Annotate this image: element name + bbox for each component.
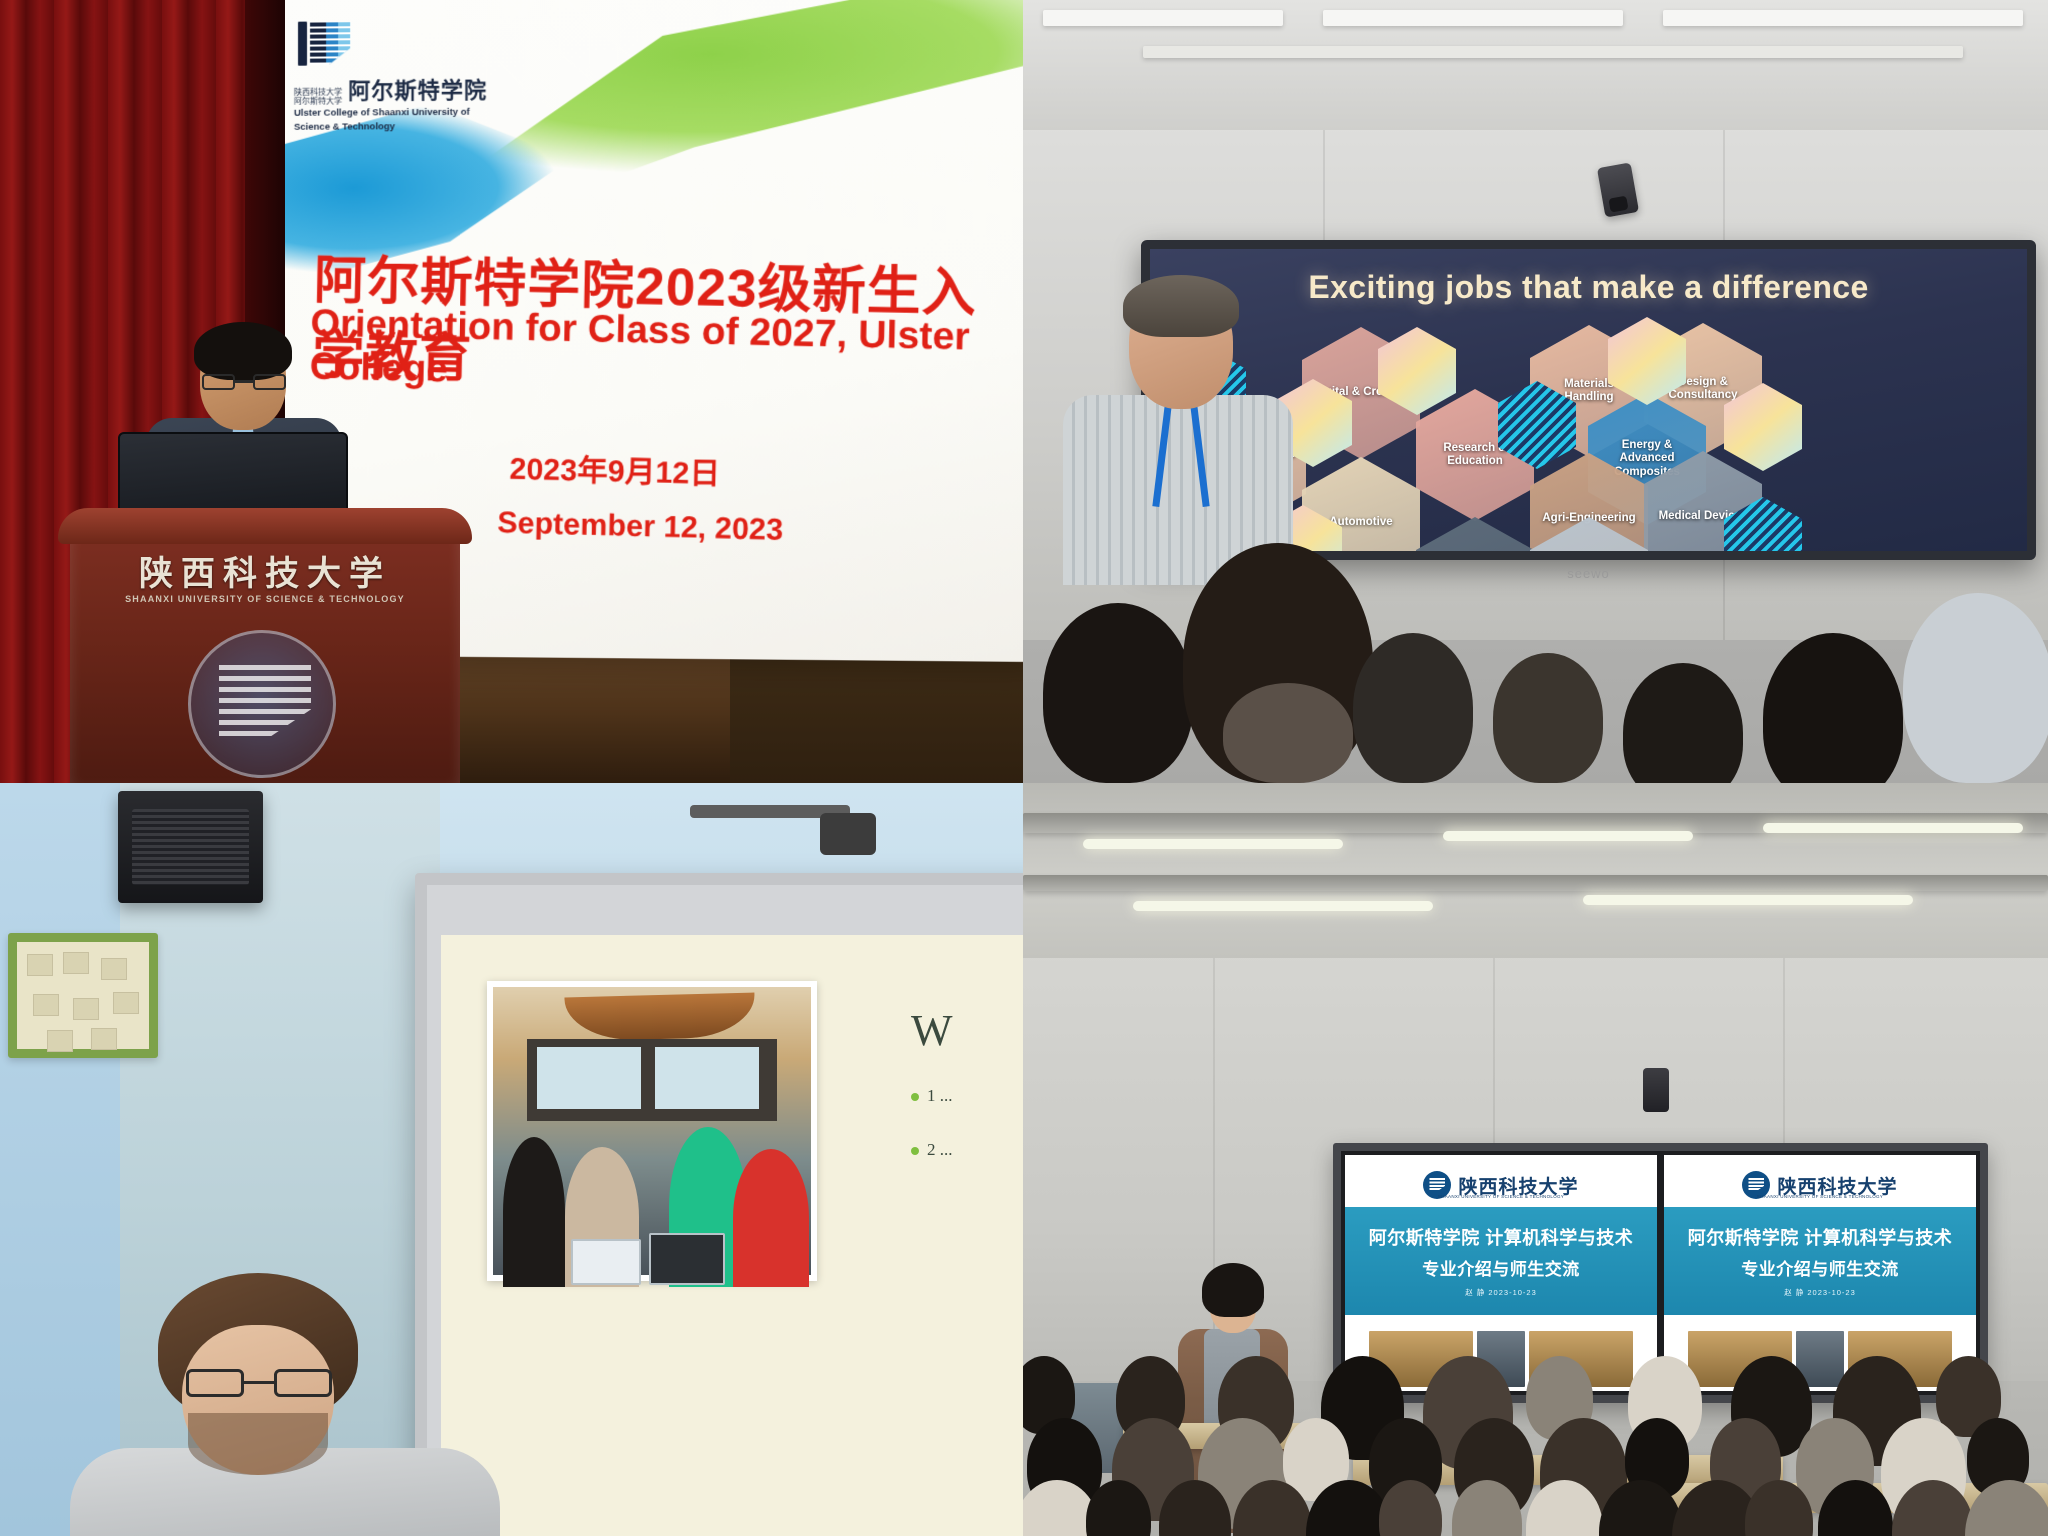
- audience-head-8: [1223, 683, 1353, 783]
- whiteboard-screen: W 1 ... 2 ...: [441, 935, 1023, 1536]
- panel-orientation: 陕西科技大学 阿尔斯特大学 阿尔斯特学院 Ulster College of S…: [0, 0, 1023, 783]
- podium-cn-text: 陕西科技大学: [70, 546, 460, 595]
- logo-en-line2: Science & Technology: [294, 121, 546, 135]
- ceiling-camera-icon: [1643, 1068, 1669, 1112]
- lecturer-person: [70, 1273, 500, 1536]
- student-audience: [1023, 1236, 2048, 1536]
- wall-speaker-icon: [118, 791, 263, 903]
- slide-date-en: September 12, 2023: [497, 506, 784, 548]
- slide-title-en: Orientation for Class of 2027, Ulster Co…: [309, 302, 1023, 405]
- ceiling: [1023, 0, 2048, 130]
- slide-bullet-1: 1 ...: [911, 1086, 1021, 1106]
- hall-university-en-2: SHAANXI UNIVERSITY OF SCIENCE & TECHNOLO…: [1664, 1194, 1976, 1199]
- glasses-icon: [202, 374, 286, 390]
- ulster-college-logo: 陕西科技大学 阿尔斯特大学 阿尔斯特学院 Ulster College of S…: [294, 16, 546, 135]
- hall-university-en: SHAANXI UNIVERSITY OF SCIENCE & TECHNOLO…: [1345, 1194, 1657, 1199]
- logo-cn-name: 阿尔斯特学院: [348, 72, 487, 105]
- panel-careers: Exciting jobs Internet of Things & Indus…: [1023, 0, 2048, 783]
- audience-head-1: [1043, 603, 1193, 783]
- logo-cn-small-1: 陕西科技大学: [294, 87, 342, 97]
- audience-head-7: [1903, 593, 2048, 783]
- logo-cn-small-2: 阿尔斯特大学: [294, 96, 342, 106]
- canoe-icon: [564, 993, 755, 1042]
- notice-board-icon: [8, 933, 158, 1058]
- audience-foreground: [1023, 483, 2048, 783]
- projector-arm-icon: [690, 783, 850, 859]
- slide-text-block: W 1 ... 2 ...: [911, 1005, 1021, 1194]
- panel-classroom: W 1 ... 2 ... ◁ ◇ ▷ ◉ ▤ ➤ ✎: [0, 783, 1023, 1536]
- hall-ceiling: [1023, 783, 2048, 958]
- bookshelf-icon: [527, 1039, 777, 1121]
- panel-lecture-hall: 陕西科技大学 SHAANXI UNIVERSITY OF SCIENCE & T…: [1023, 783, 2048, 1536]
- audience-head-4: [1493, 653, 1603, 783]
- slide-heading: W: [911, 1005, 1021, 1056]
- slide-photo: [487, 981, 817, 1281]
- audience-head-5: [1623, 663, 1743, 783]
- podium-en-text: SHAANXI UNIVERSITY OF SCIENCE & TECHNOLO…: [70, 594, 460, 604]
- podium: 陕西科技大学 SHAANXI UNIVERSITY OF SCIENCE & T…: [70, 520, 460, 783]
- photo-collage: 陕西科技大学 阿尔斯特大学 阿尔斯特学院 Ulster College of S…: [0, 0, 2048, 1536]
- logo-en-line1: Ulster College of Shaanxi University of: [294, 106, 546, 120]
- audience-head-3: [1353, 633, 1473, 783]
- interactive-whiteboard: W 1 ... 2 ... ◁ ◇ ▷ ◉ ▤ ➤ ✎: [415, 873, 1023, 1536]
- university-seal-icon: [188, 630, 336, 778]
- slide-date-cn: 2023年9月12日: [509, 444, 721, 494]
- audience-head-6: [1763, 633, 1903, 783]
- slide-bullet-2: 2 ...: [911, 1140, 1021, 1160]
- glasses-icon: [186, 1369, 332, 1397]
- ulster-shield-icon: [294, 17, 352, 70]
